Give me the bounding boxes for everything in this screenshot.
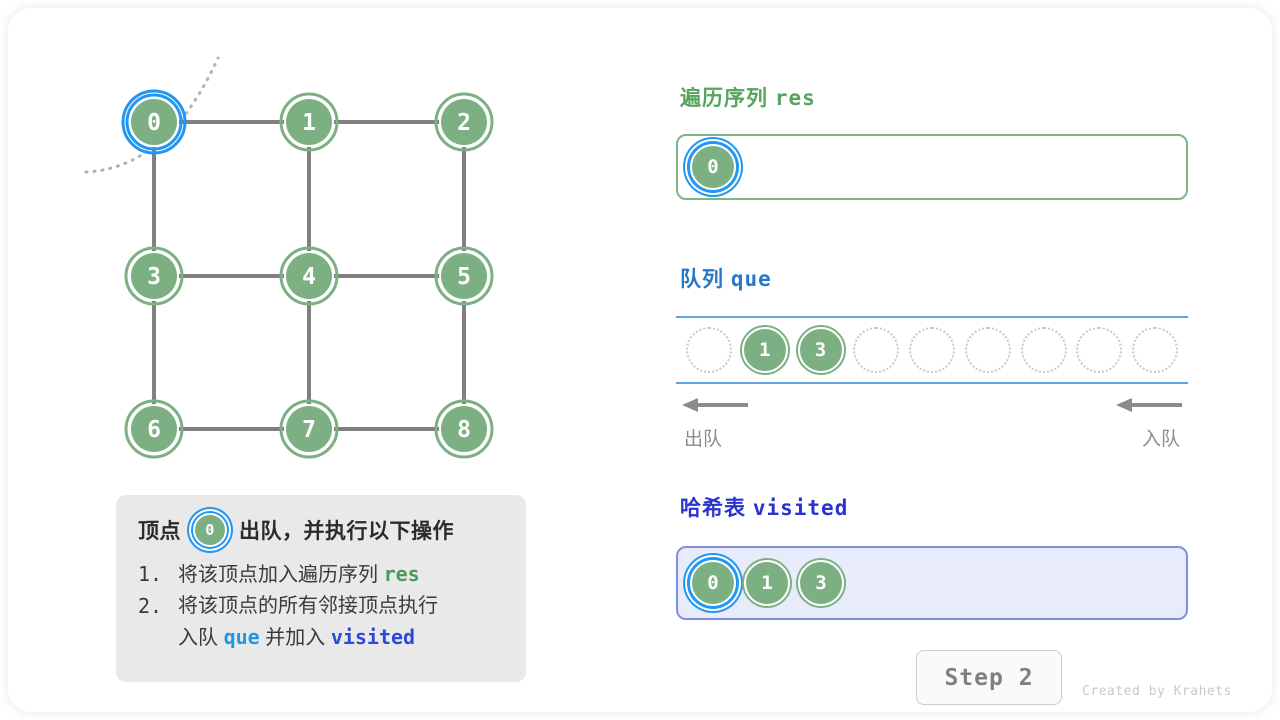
node-chip-label: 3 [815, 339, 826, 361]
enqueue-arrow-icon [1114, 396, 1184, 414]
visited-section-title: 哈希表 visited [680, 492, 848, 522]
enqueue-label: 入队 [1142, 424, 1180, 451]
legend-node-badge: 0 [193, 513, 227, 547]
graph-node-1: 1 [281, 94, 337, 150]
res-section-title: 遍历序列 res [680, 82, 816, 112]
legend-box: 顶点 0 出队，并执行以下操作 1.将该顶点加入遍历序列 res2.将该顶点的所… [116, 495, 526, 682]
node-chip: 1 [742, 327, 788, 373]
legend-text-part: 将该顶点的所有邻接顶点执行 [178, 595, 438, 617]
visited-title-code: visited [753, 496, 849, 520]
legend-step-number [138, 622, 178, 654]
queue-slot-empty [1076, 327, 1122, 373]
visited-container: 013 [676, 546, 1188, 620]
queue-slot-empty [1021, 327, 1067, 373]
legend-text-part: res [384, 562, 420, 586]
node-label: 8 [457, 417, 471, 443]
res-title-code: res [775, 86, 816, 110]
page-card: 012345678 顶点 0 出队，并执行以下操作 1.将该顶点加入遍历序列 r… [8, 8, 1272, 712]
node-chip-label: 0 [707, 156, 718, 178]
queue-slot-empty [853, 327, 899, 373]
graph-svg: 012345678 [78, 48, 598, 488]
node-chip: 3 [798, 327, 844, 373]
graph-node-3: 3 [126, 248, 182, 304]
node-label: 3 [147, 264, 161, 290]
node-label: 2 [457, 110, 471, 136]
step-badge: Step 2 [916, 650, 1062, 705]
node-label: 6 [147, 417, 161, 443]
legend-step-number: 2. [138, 591, 178, 622]
node-chip: 0 [690, 560, 736, 606]
queue-slot-empty [909, 327, 955, 373]
queue-slot-empty [686, 327, 732, 373]
dequeue-label: 出队 [684, 424, 722, 451]
dequeue-arrow-icon [680, 396, 750, 414]
node-chip-label: 0 [707, 572, 718, 594]
right-panel: 遍历序列 res 0 队列 que 13 [676, 8, 1216, 720]
queue-title-cn: 队列 [680, 268, 724, 291]
screenshot-root: 012345678 顶点 0 出队，并执行以下操作 1.将该顶点加入遍历序列 r… [0, 0, 1280, 720]
queue-title-code: que [731, 267, 772, 291]
node-label: 5 [457, 264, 471, 290]
legend-step-number: 1. [138, 559, 178, 591]
graph-diagram: 012345678 [78, 48, 598, 488]
graph-node-8: 8 [436, 401, 492, 457]
queue-slot-empty [965, 327, 1011, 373]
node-chip-label: 1 [761, 572, 772, 594]
legend-step-item: 入队 que 并加入 visited [138, 622, 506, 654]
legend-step-text: 入队 que 并加入 visited [178, 622, 506, 654]
legend-step-list: 1.将该顶点加入遍历序列 res2.将该顶点的所有邻接顶点执行入队 que 并加… [138, 559, 506, 654]
legend-text-part: visited [331, 625, 415, 649]
legend-step-item: 1.将该顶点加入遍历序列 res [138, 559, 506, 591]
queue-direction-arrows: 出队 入队 [676, 390, 1188, 462]
node-label: 7 [302, 417, 316, 443]
queue-container: 13 出队 入队 [676, 316, 1188, 462]
node-chip-label: 1 [759, 339, 770, 361]
credit-label: Created by Krahets [1082, 684, 1232, 699]
visited-title-cn: 哈希表 [680, 497, 746, 520]
node-label: 0 [147, 110, 161, 136]
node-chip: 0 [690, 144, 736, 190]
legend-text-part: 将该顶点加入遍历序列 [178, 564, 384, 586]
queue-slot-empty [1132, 327, 1178, 373]
graph-node-6: 6 [126, 401, 182, 457]
graph-node-2: 2 [436, 94, 492, 150]
graph-node-5: 5 [436, 248, 492, 304]
legend-step-text: 将该顶点的所有邻接顶点执行 [178, 591, 506, 622]
res-container: 0 [676, 134, 1188, 200]
graph-node-4: 4 [281, 248, 337, 304]
legend-step-item: 2.将该顶点的所有邻接顶点执行 [138, 591, 506, 622]
legend-head-prefix: 顶点 [138, 515, 181, 545]
legend-text-part: 入队 [178, 627, 224, 649]
legend-head-suffix: 出队，并执行以下操作 [239, 515, 454, 545]
queue-section-title: 队列 que [680, 263, 772, 293]
graph-nodes: 012345678 [123, 91, 492, 457]
graph-node-0: 0 [123, 91, 185, 153]
legend-heading: 顶点 0 出队，并执行以下操作 [138, 511, 506, 549]
node-chip: 1 [744, 560, 790, 606]
legend-text-part: que [224, 625, 260, 649]
legend-node-badge-label: 0 [205, 521, 215, 539]
res-title-cn: 遍历序列 [680, 87, 768, 110]
node-chip-label: 3 [815, 572, 826, 594]
legend-step-text: 将该顶点加入遍历序列 res [178, 559, 506, 591]
queue-rail-bottom [676, 382, 1188, 384]
node-chip: 3 [798, 560, 844, 606]
legend-text-part: 并加入 [260, 627, 331, 649]
queue-slots: 13 [676, 318, 1188, 382]
node-label: 4 [302, 264, 316, 290]
graph-node-7: 7 [281, 401, 337, 457]
node-label: 1 [302, 110, 316, 136]
